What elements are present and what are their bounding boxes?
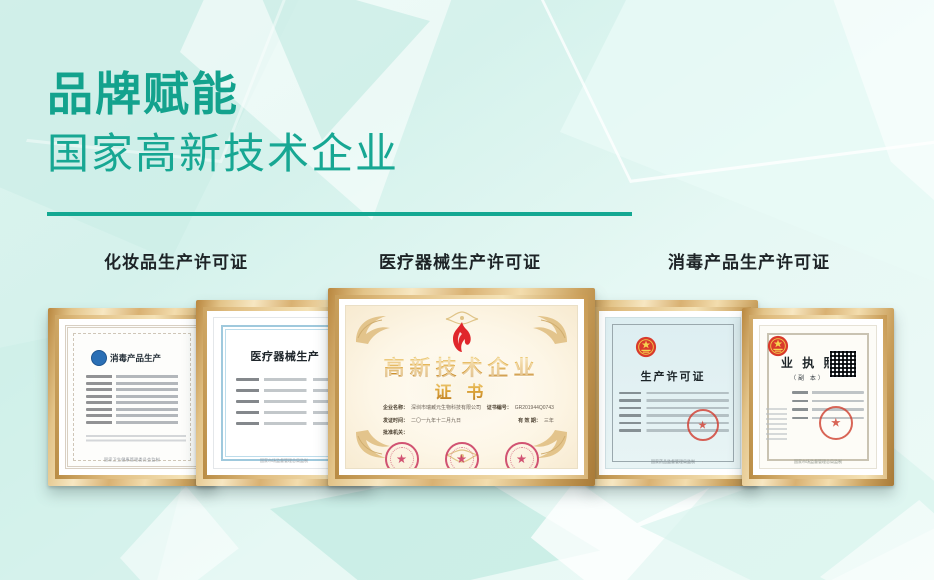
certificate-field-line (236, 389, 340, 392)
frame-inner-bevel: 业 执 照 （副 本） 国家市场监督管理总局监制 (749, 315, 887, 479)
certificate-paper-disinfection: 消毒产品生产 国家卫生健康管理委 (65, 325, 199, 469)
certificate-field-line (236, 400, 340, 403)
certificate-field-line (86, 408, 186, 411)
certificate-field-line (86, 388, 186, 391)
official-seal-icon (505, 442, 539, 469)
national-emblem-icon (767, 335, 789, 357)
certificate-field-number: 证书编号： GR201944Q0743 (487, 406, 554, 412)
field-value: GR201944Q0743 (515, 406, 554, 412)
official-seal-icon (445, 442, 479, 469)
national-emblem-icon (635, 336, 657, 358)
certificate-field-line (86, 382, 186, 385)
certificate-subtitle: （副 本） (790, 373, 826, 382)
certificate-field-issue-date: 发证时间： 二〇一九年十二月九日 (383, 419, 461, 425)
certificate-footer: 国家药品监督管理局监制 (606, 459, 740, 465)
qr-code-icon (829, 350, 857, 378)
field-value: 二〇一九年十二月九日 (411, 419, 461, 425)
certificate-side-text-block (766, 408, 787, 439)
certificate-field-line (792, 391, 864, 394)
field-key: 有 效 期： (518, 419, 541, 425)
frame-mat: 消毒产品生产 国家卫生健康管理委 (59, 319, 205, 475)
certificate-paper-business-licence: 业 执 照 （副 本） 国家市场监督管理总局监制 (759, 325, 877, 469)
frame-mat: 生产许可证 国家药品监督管理局监制 (599, 311, 747, 475)
certificate-subtitle: 证 书 (346, 378, 577, 403)
certificate-field-line (236, 422, 340, 425)
certificate-seal-group (346, 442, 577, 469)
field-value: 深圳市瑞臧元生物科技有限公司 (411, 406, 481, 412)
certificate-field-line (619, 407, 729, 410)
gold-corner-ornament-icon (529, 312, 571, 346)
certificate-field-list (86, 375, 186, 428)
field-key: 证书编号： (487, 406, 512, 412)
certificate-field-line (619, 399, 729, 402)
certificate-frame-disinfection-product[interactable]: 消毒产品生产 国家卫生健康管理委 (48, 308, 216, 486)
certificate-field-line (236, 378, 340, 381)
certificate-field-line (619, 392, 729, 395)
certificate-field-line (86, 401, 186, 404)
certificate-field-line (236, 411, 340, 414)
certificate-field-line (86, 414, 186, 417)
frame-mat: 高新技术企业 证 书 企业名称： 深圳市瑞臧元生物科技有限公司 证书编号： (339, 299, 584, 475)
field-value: 三年 (544, 419, 554, 425)
official-seal-icon (819, 406, 853, 440)
field-key: 发证时间： (383, 419, 408, 425)
certificate-frame-business-licence[interactable]: 业 执 照 （副 本） 国家市场监督管理总局监制 (742, 308, 894, 486)
certificate-field-line (86, 375, 186, 378)
certificate-field-line (86, 395, 186, 398)
certificate-title: 医疗器械生产 (250, 348, 319, 364)
certificate-field-line (792, 400, 864, 403)
certificate-field-line (86, 421, 186, 424)
certificate-field-validity: 有 效 期： 三年 (518, 419, 554, 425)
official-seal-icon (687, 409, 719, 441)
field-key: 批准机关： (383, 431, 408, 437)
health-emblem-icon (91, 350, 107, 366)
certificate-paper-high-tech: 高新技术企业 证 书 企业名称： 深圳市瑞臧元生物科技有限公司 证书编号： (345, 305, 578, 469)
official-seal-icon (385, 442, 419, 469)
gold-corner-ornament-icon (352, 312, 394, 346)
certificate-field-list (236, 378, 340, 433)
certificate-field-list: 企业名称： 深圳市瑞臧元生物科技有限公司 证书编号： GR201944Q0743 (383, 406, 554, 444)
promo-banner: 品牌赋能 国家高新技术企业 化妆品生产许可证 医疗器械生产许可证 消毒产品生产许… (0, 0, 934, 580)
certificate-field-row: 企业名称： 深圳市瑞臧元生物科技有限公司 证书编号： GR201944Q0743 (383, 406, 554, 412)
certificate-header: 消毒产品生产 (91, 350, 161, 366)
certificate-frame-high-tech-enterprise[interactable]: 高新技术企业 证 书 企业名称： 深圳市瑞臧元生物科技有限公司 证书编号： (328, 288, 595, 486)
frame-mat: 业 执 照 （副 本） 国家市场监督管理总局监制 (753, 319, 883, 475)
certificate-field-row: 批准机关： (383, 431, 554, 437)
certificate-gallery: 消毒产品生产 国家卫生健康管理委 (0, 0, 934, 580)
certificate-field-authority: 批准机关： (383, 431, 411, 437)
certificate-note-block (86, 435, 186, 444)
high-tech-flame-logo-icon (449, 322, 475, 352)
frame-inner-bevel: 高新技术企业 证 书 企业名称： 深圳市瑞臧元生物科技有限公司 证书编号： (335, 295, 588, 479)
certificate-title: 生产许可证 (606, 368, 740, 384)
certificate-footer: 国家市场监督管理总局监制 (760, 459, 876, 465)
certificate-paper-production-licence: 生产许可证 国家药品监督管理局监制 (605, 317, 741, 469)
frame-inner-bevel: 生产许可证 国家药品监督管理局监制 (595, 307, 751, 479)
certificate-field-row: 发证时间： 二〇一九年十二月九日 有 效 期： 三年 (383, 419, 554, 425)
certificate-frame-cosmetics-production[interactable]: 生产许可证 国家药品监督管理局监制 (588, 300, 758, 486)
certificate-field-company: 企业名称： 深圳市瑞臧元生物科技有限公司 (383, 406, 481, 412)
certificate-footer: 国家卫生健康管理委员会监制 (68, 457, 196, 463)
frame-inner-bevel: 消毒产品生产 国家卫生健康管理委 (55, 315, 209, 479)
certificate-title: 消毒产品生产 (110, 352, 161, 364)
field-key: 企业名称： (383, 406, 408, 412)
